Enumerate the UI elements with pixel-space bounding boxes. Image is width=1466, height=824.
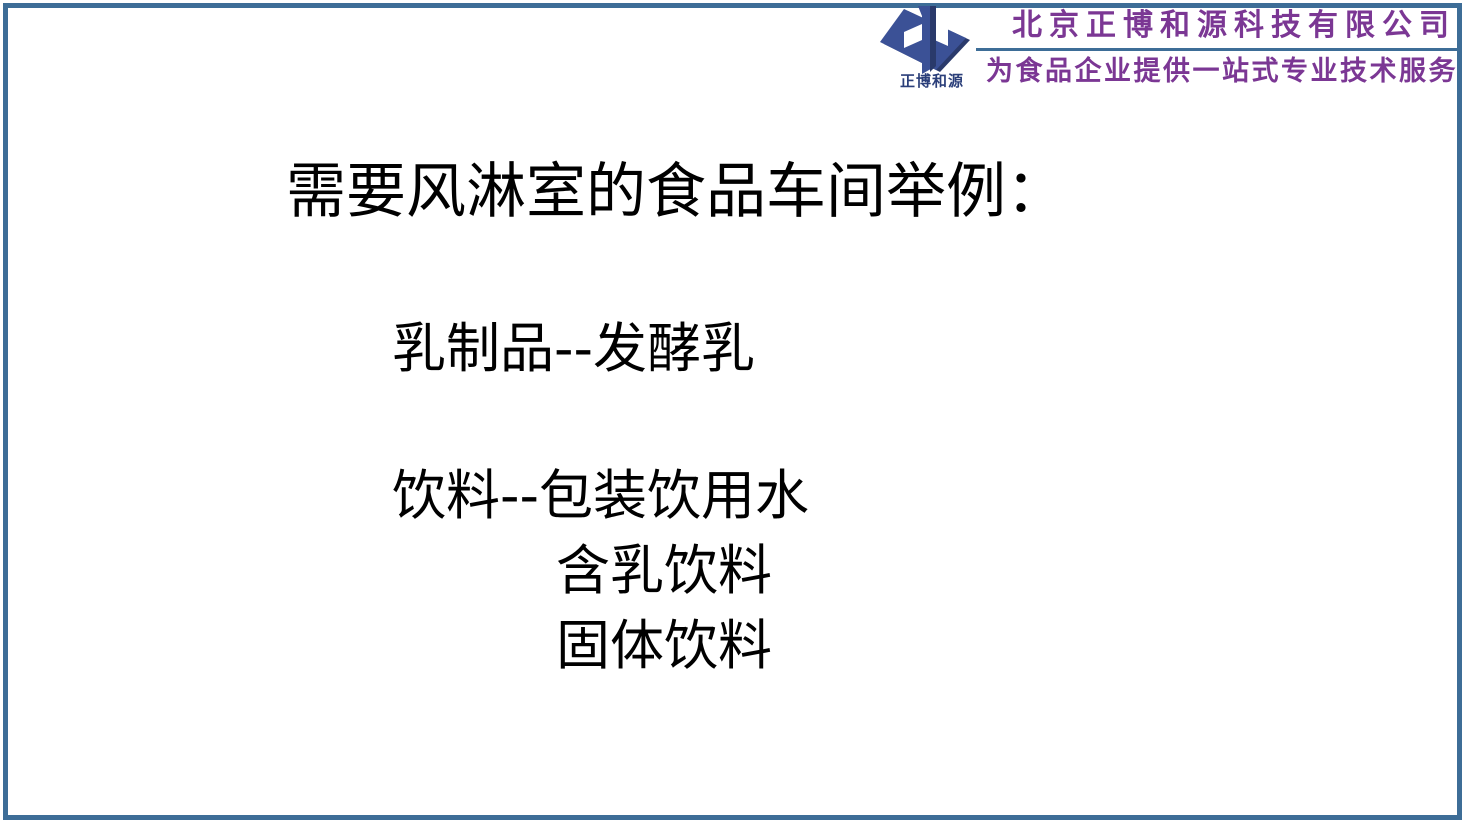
company-name: 北京正博和源科技有限公司 [976,6,1460,46]
content-line-solid-beverage: 固体饮料 [556,615,772,677]
diamond-z-logo-icon [878,6,974,76]
company-logo: 正博和源 [872,4,976,104]
brand-divider [976,48,1458,51]
slide-title: 需要风淋室的食品车间举例： [286,158,1066,227]
presentation-slide: 正博和源 北京正博和源科技有限公司 为食品企业提供一站式专业技术服务 需要风淋室… [0,0,1466,824]
brand-header: 正博和源 北京正博和源科技有限公司 为食品企业提供一站式专业技术服务 [872,4,1460,108]
logo-wordmark: 正博和源 [886,74,978,89]
brand-text-block: 北京正博和源科技有限公司 为食品企业提供一站式专业技术服务 [976,4,1460,90]
content-line-dairy: 乳制品--发酵乳 [392,318,755,380]
content-line-milk-beverage: 含乳饮料 [556,540,772,602]
slide-body: 需要风淋室的食品车间举例： 乳制品--发酵乳 饮料--包装饮用水 含乳饮料 固体… [0,140,1466,760]
company-slogan: 为食品企业提供一站式专业技术服务 [976,54,1460,90]
content-line-beverage-water: 饮料--包装饮用水 [392,465,809,527]
